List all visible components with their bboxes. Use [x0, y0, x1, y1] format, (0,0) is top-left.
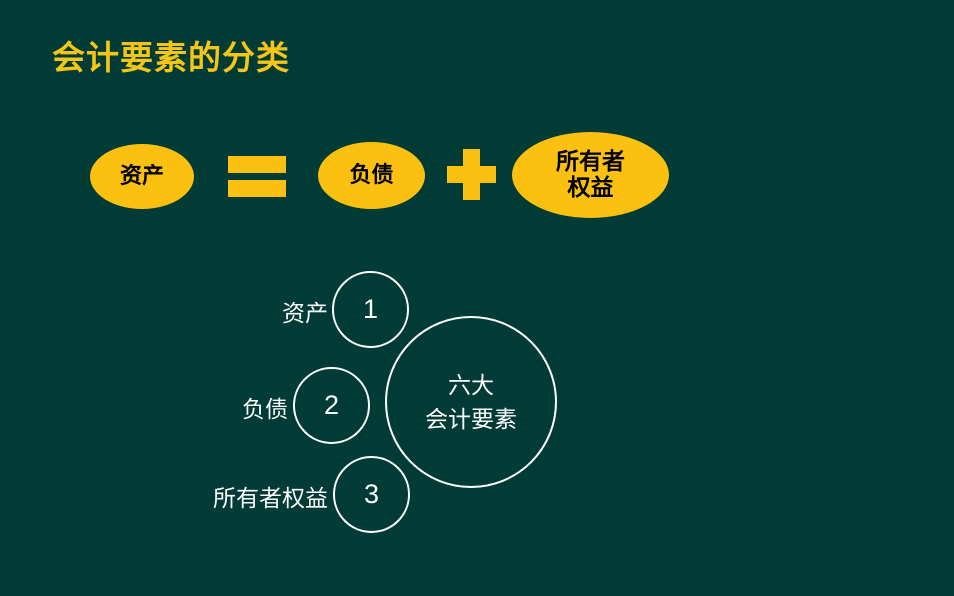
equation-owners-equity-line-2: 权益 — [556, 175, 625, 201]
equation-ellipse-assets: 资产 — [90, 144, 194, 209]
diagram-number-3: 3 — [364, 479, 379, 510]
equation-liabilities-label: 负债 — [349, 163, 393, 188]
diagram-center-circle: 六大 会计要素 — [385, 316, 557, 488]
plus-bar-vertical — [463, 149, 480, 200]
diagram-number-circle-3: 3 — [333, 456, 410, 533]
diagram-number-2: 2 — [324, 390, 339, 421]
equals-bar-top — [228, 156, 286, 173]
equation-owners-equity-line-1: 所有者 — [556, 149, 625, 175]
diagram-center-label: 六大 会计要素 — [425, 368, 517, 437]
plus-sign-icon — [447, 149, 496, 200]
page-title: 会计要素的分类 — [52, 38, 290, 78]
equation-owners-equity-label: 所有者 权益 — [556, 149, 625, 201]
diagram-label-assets: 资产 — [180, 294, 328, 328]
diagram-center-line-2: 会计要素 — [425, 402, 517, 437]
diagram-center-line-1: 六大 — [425, 368, 517, 403]
diagram-number-1: 1 — [363, 294, 378, 325]
equation-ellipse-liabilities: 负债 — [318, 142, 425, 209]
equals-bar-bottom — [228, 180, 286, 197]
equation-assets-label: 资产 — [120, 164, 164, 189]
diagram-number-circle-1: 1 — [332, 271, 409, 348]
diagram-label-liabilities: 负债 — [140, 390, 288, 424]
diagram-number-circle-2: 2 — [293, 367, 370, 444]
equation-ellipse-owners-equity: 所有者 权益 — [512, 132, 669, 218]
diagram-label-owners-equity: 所有者权益 — [120, 479, 328, 513]
slide-canvas: 会计要素的分类 资产 负债 所有者 权益 资产 1 负债 2 所有者权益 3 六… — [0, 0, 954, 596]
equals-sign-icon — [228, 156, 286, 197]
